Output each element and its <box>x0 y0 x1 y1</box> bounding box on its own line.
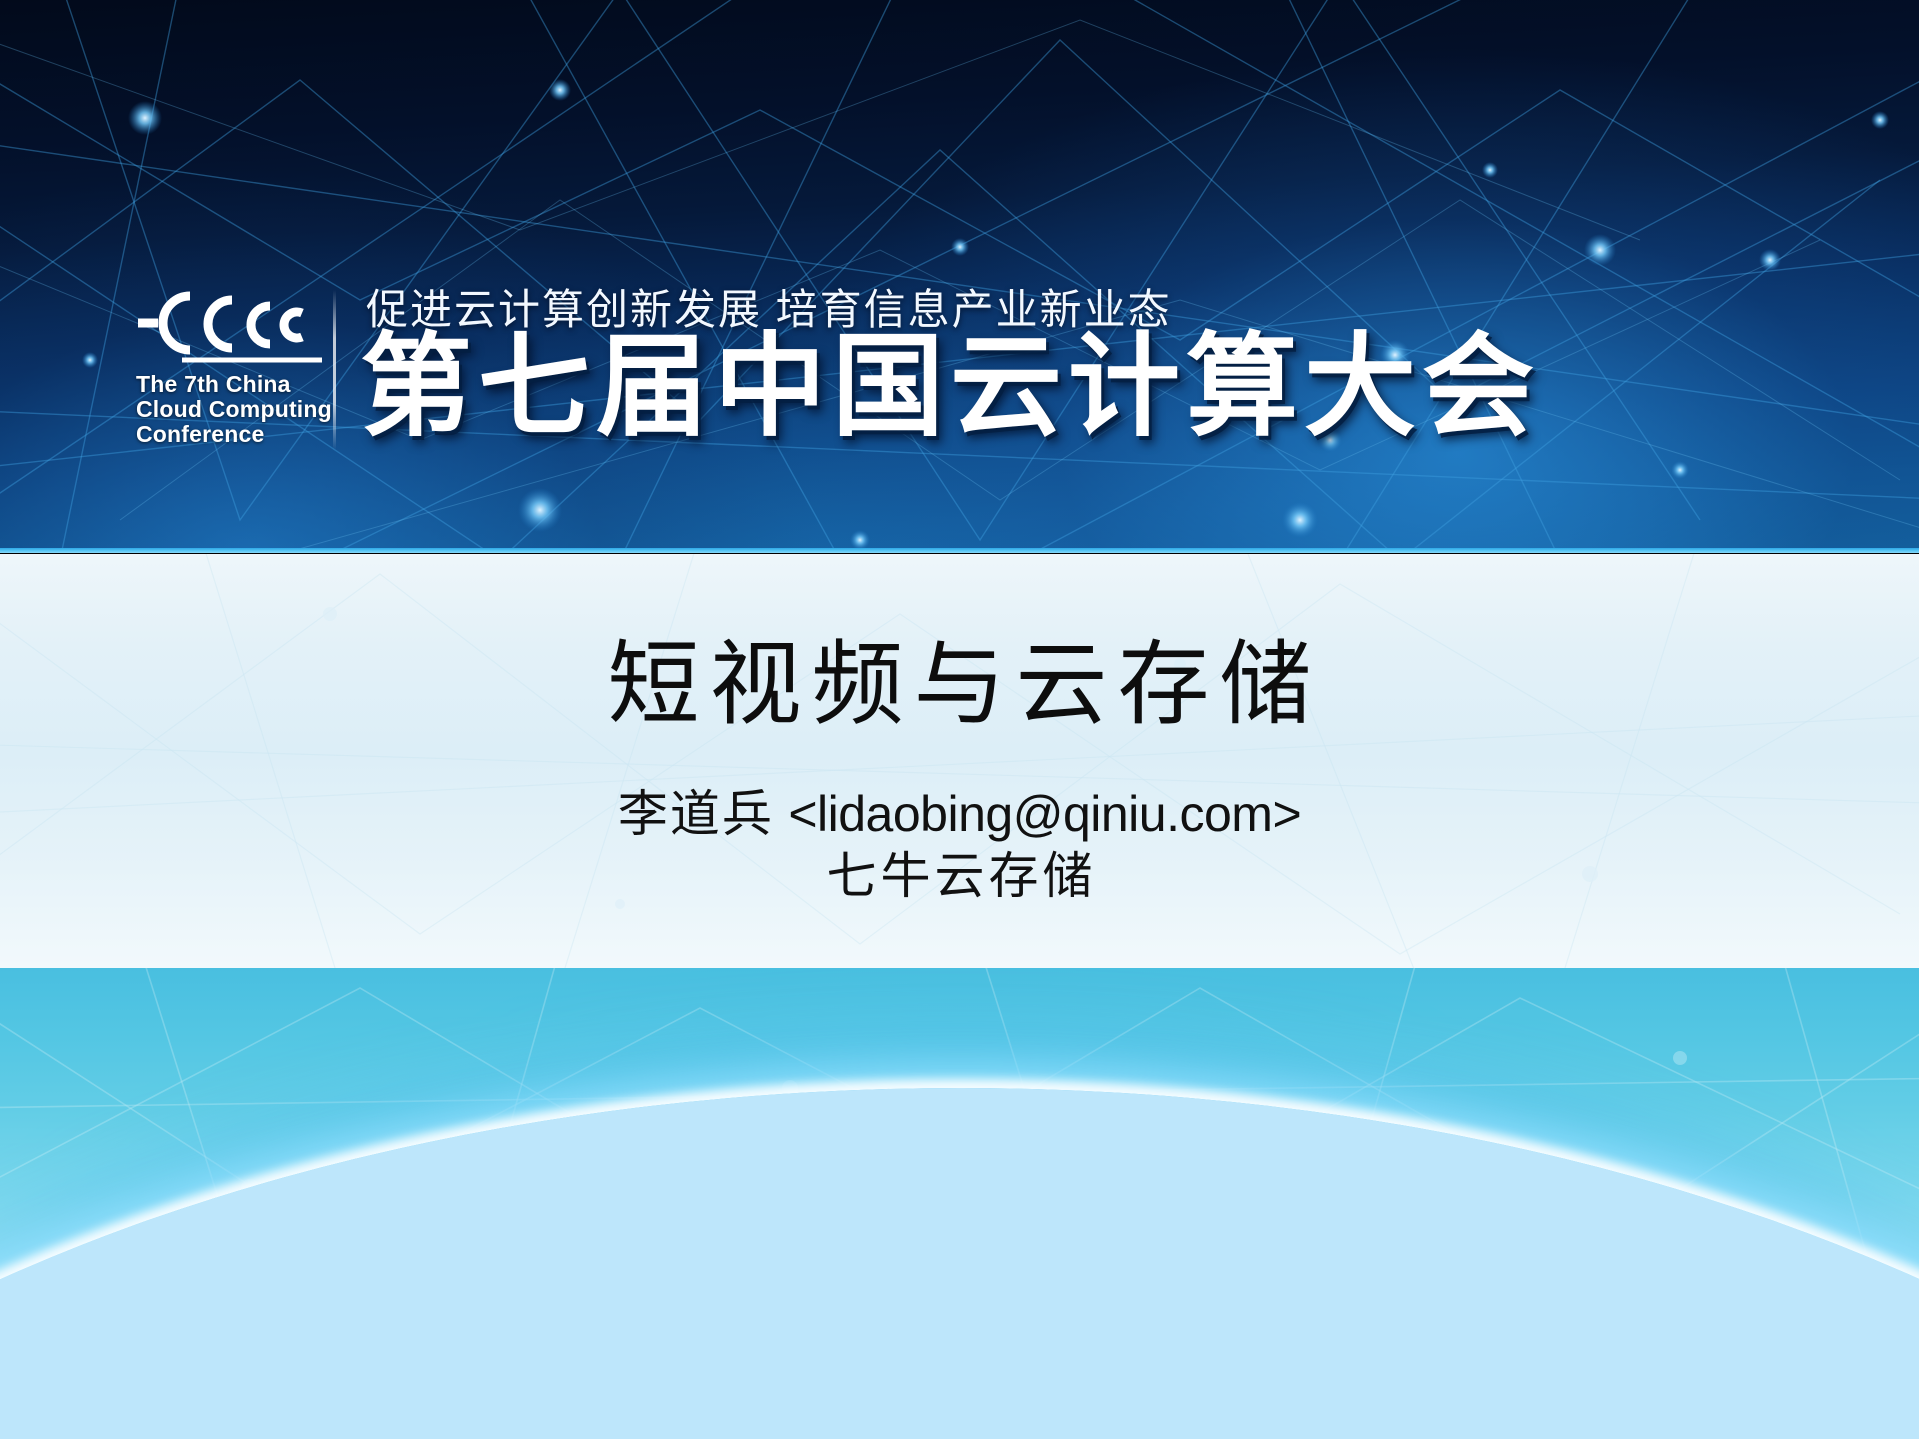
english-line-2: Cloud Computing <box>136 397 346 422</box>
page-title: 短视频与云存储 <box>0 610 1919 743</box>
ccc-logo-icon <box>136 280 322 366</box>
banner-bottom-edge <box>0 548 1919 553</box>
logo-divider <box>333 290 336 450</box>
english-line-1: The 7th China <box>136 372 346 397</box>
footer-sky <box>0 968 1919 1439</box>
author-email: <lidaobing@qiniu.com> <box>788 786 1301 842</box>
presentation-slide: The 7th China Cloud Computing Conference… <box>0 0 1919 1439</box>
title-band: 短视频与云存储 李道兵 <lidaobing@qiniu.com> 七牛云存储 <box>0 554 1919 968</box>
author-name: 李道兵 <box>618 786 789 842</box>
conference-logo-block: The 7th China Cloud Computing Conference… <box>128 272 1308 502</box>
english-line-3: Conference <box>136 422 346 447</box>
conference-headline: 第七届中国云计算大会 <box>360 330 1540 444</box>
organization-name: 七牛云存储 <box>0 836 1919 908</box>
conference-banner: The 7th China Cloud Computing Conference… <box>0 0 1919 553</box>
conference-english-name: The 7th China Cloud Computing Conference <box>136 372 346 447</box>
